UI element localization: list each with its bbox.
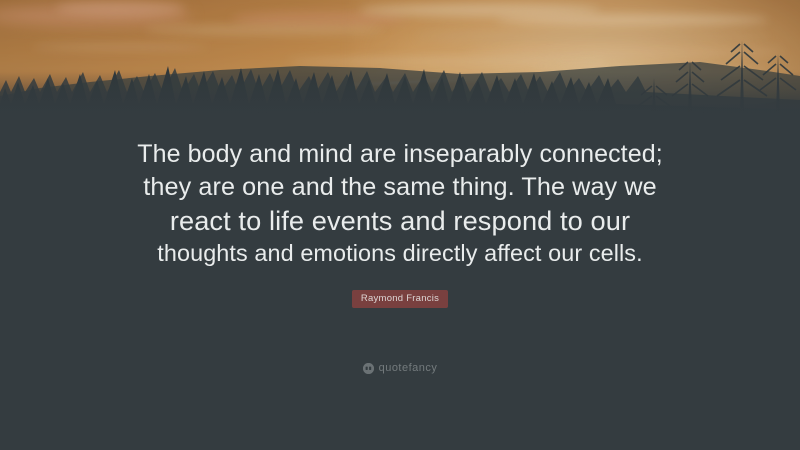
author-name-badge[interactable]: Raymond Francis [352,290,448,308]
quote-wallpaper: The body and mind are inseparably connec… [0,0,800,450]
quote-line: react to life events and respond to our [130,204,670,237]
quote-text-block: The body and mind are inseparably connec… [130,138,670,270]
quotefancy-watermark[interactable]: quotefancy [0,363,800,374]
quotefancy-logo-icon [363,363,374,374]
quote-line: thoughts and emotions directly affect ou… [130,237,670,270]
sunset-photo-band [0,0,800,132]
author-badge-wrap: Raymond Francis [0,288,800,308]
quotefancy-brand-text: quotefancy [379,363,438,374]
photo-fade-overlay [0,72,800,132]
quote-line: they are one and the same thing. The way… [130,171,670,204]
quote-line: The body and mind are inseparably connec… [130,138,670,171]
